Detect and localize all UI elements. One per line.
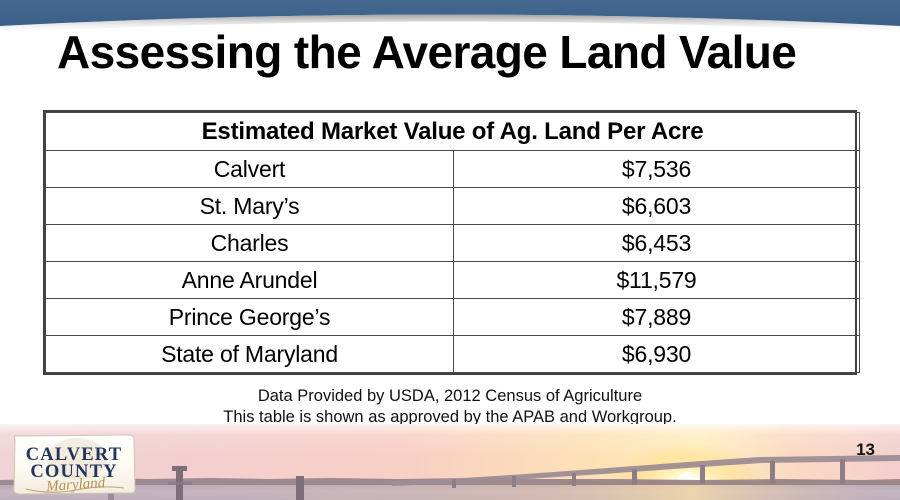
row-name: Calvert <box>46 151 454 188</box>
slide: Assessing the Average Land Value Estimat… <box>0 0 900 500</box>
land-value-table: Estimated Market Value of Ag. Land Per A… <box>43 110 857 375</box>
table-header-title: Estimated Market Value of Ag. Land Per A… <box>46 113 860 151</box>
row-name: Charles <box>46 225 454 262</box>
row-value: $6,603 <box>454 188 860 225</box>
row-name: Prince George’s <box>46 299 454 336</box>
table-row: Prince George’s $7,889 <box>46 299 860 336</box>
row-value: $11,579 <box>454 262 860 299</box>
table-row: Calvert $7,536 <box>46 151 860 188</box>
table-row: St. Mary’s $6,603 <box>46 188 860 225</box>
source-caption: Data Provided by USDA, 2012 Census of Ag… <box>0 386 900 428</box>
row-value: $7,889 <box>454 299 860 336</box>
row-name: Anne Arundel <box>46 262 454 299</box>
table-row: Charles $6,453 <box>46 225 860 262</box>
page-title: Assessing the Average Land Value <box>57 27 857 78</box>
page-number: 13 <box>856 440 875 460</box>
table-row: State of Maryland $6,930 <box>46 336 860 373</box>
row-value: $7,536 <box>454 151 860 188</box>
calvert-county-logo: CALVERT COUNTY Maryland <box>10 433 138 497</box>
caption-line-1: Data Provided by USDA, 2012 Census of Ag… <box>0 386 900 407</box>
calvert-county-logo-mark: CALVERT COUNTY Maryland <box>10 433 138 497</box>
row-value: $6,930 <box>454 336 860 373</box>
row-name: St. Mary’s <box>46 188 454 225</box>
table-header-row: Estimated Market Value of Ag. Land Per A… <box>46 113 860 151</box>
row-value: $6,453 <box>454 225 860 262</box>
row-name: State of Maryland <box>46 336 454 373</box>
table-row: Anne Arundel $11,579 <box>46 262 860 299</box>
